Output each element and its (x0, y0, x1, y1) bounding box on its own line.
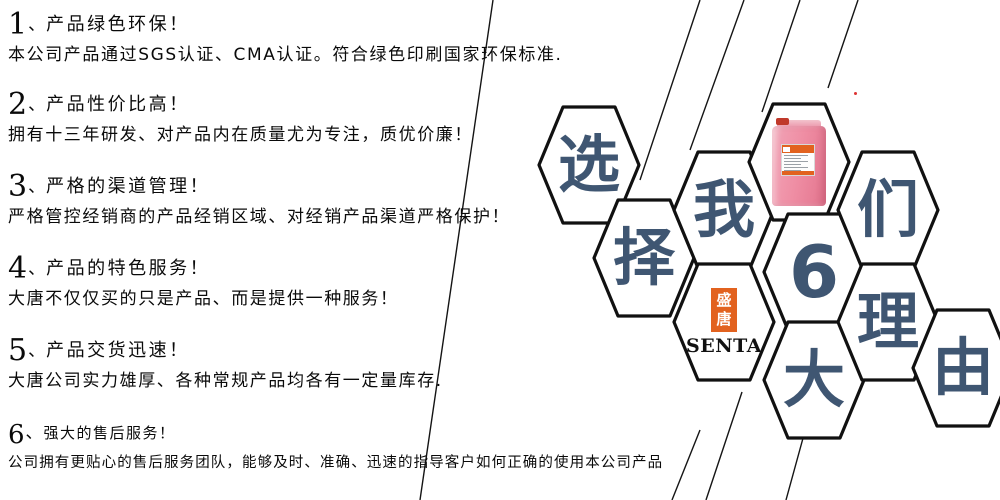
reason-title: 产品的特色服务！ (46, 256, 210, 284)
reason-number: 1 (8, 10, 27, 40)
hex-glyph: 们 (836, 150, 940, 270)
logo-char-bottom: 唐 (716, 310, 731, 329)
logo-seal-icon: 盛 唐 (711, 288, 737, 332)
reason-number: 2 (8, 90, 27, 120)
reason-separator: 、 (25, 420, 44, 448)
reason-separator: 、 (27, 174, 46, 202)
reason-number: 4 (8, 254, 27, 284)
logo-wordmark: SENTA (686, 335, 762, 357)
jerrycan-icon (768, 118, 830, 206)
reason-number: 6 (8, 422, 25, 448)
honeycomb-graphic: 选 择 我 (500, 80, 1000, 440)
reason-title: 强大的售后服务！ (44, 420, 176, 448)
reason-body: 本公司产品通过SGS认证、CMA认证。符合绿色印刷国家环保标准. (8, 43, 708, 67)
label-header-band (782, 145, 814, 153)
hex-cell-logo: 盛 唐 SENTA (672, 262, 776, 382)
logo-char-top: 盛 (716, 291, 731, 310)
reason-separator: 、 (27, 338, 46, 366)
reason-number: 3 (8, 172, 27, 202)
jerrycan-label (781, 144, 815, 176)
reason-separator: 、 (27, 256, 46, 284)
promo-banner: 1 、 产品绿色环保！ 本公司产品通过SGS认证、CMA认证。符合绿色印刷国家环… (0, 0, 1000, 500)
reason-separator: 、 (27, 12, 46, 40)
hex-cell-you: 由 (911, 308, 1000, 428)
reason-separator: 、 (27, 92, 46, 120)
reason-title: 产品交货迅速！ (46, 338, 190, 366)
reason-number: 5 (8, 336, 27, 366)
reason-title: 产品绿色环保！ (46, 12, 190, 40)
brand-logo: 盛 唐 SENTA (672, 262, 776, 382)
label-footer-band (782, 171, 814, 175)
reason-body: 公司拥有更贴心的售后服务团队，能够及时、准确、迅速的指导客户如何正确的使用本公司… (8, 451, 708, 475)
hex-glyph: 由 (911, 308, 1000, 428)
reason-item-1: 1 、 产品绿色环保！ 本公司产品通过SGS认证、CMA认证。符合绿色印刷国家环… (8, 10, 708, 67)
reason-heading: 1 、 产品绿色环保！ (8, 10, 708, 40)
reason-title: 严格的渠道管理！ (46, 174, 210, 202)
label-text-lines (782, 153, 814, 171)
jerrycan-cap (776, 118, 789, 125)
hex-cell-men: 们 (836, 150, 940, 270)
reason-title: 产品性价比高！ (46, 92, 190, 120)
